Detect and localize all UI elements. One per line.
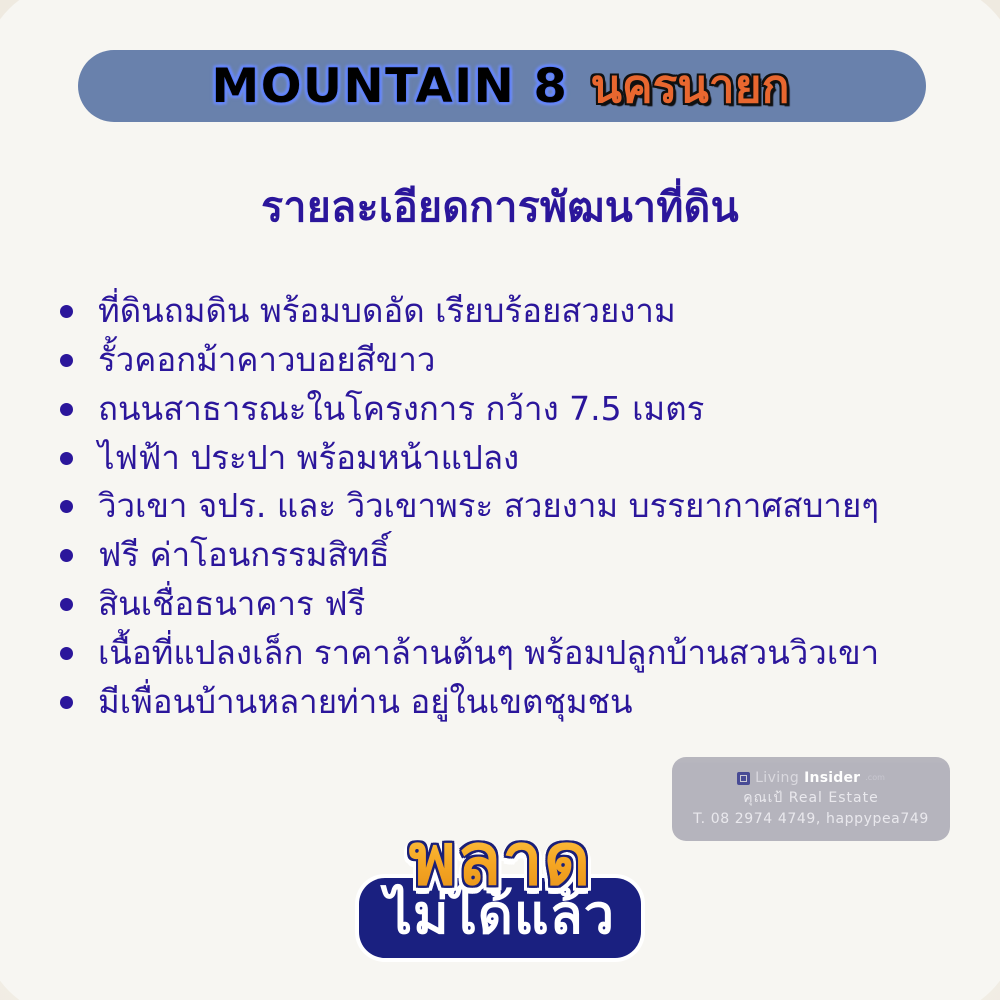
list-item: ที่ดินถมดิน พร้อมบดอัด เรียบร้อยสวยงาม [52,288,982,334]
list-item: สินเชื่อธนาคาร ฟรี [52,581,982,627]
watermark-brand-living: Living [755,771,799,785]
list-item-label: ไฟฟ้า ประปา พร้อมหน้าแปลง [98,438,519,477]
list-item: วิวเขา จปร. และ วิวเขาพระ สวยงาม บรรยากา… [52,483,982,529]
bullet-icon [60,354,73,367]
watermark-brand-insider: Insider [804,771,860,785]
watermark-brand-suffix: .com [865,774,885,782]
feature-list: ที่ดินถมดิน พร้อมบดอัด เรียบร้อยสวยงาม ร… [52,288,982,728]
livinginsider-logo-icon [737,772,750,785]
list-item-label: ถนนสาธารณะในโครงการ กว้าง 7.5 เมตร [98,389,704,428]
list-item-label: ฟรี ค่าโอนกรรมสิทธิ์ [98,535,390,574]
list-item-label: สินเชื่อธนาคาร ฟรี [98,584,365,623]
promo-sticker: พลาด ไม่ได้แล้ว [0,826,1000,976]
bullet-icon [60,549,73,562]
poster-root: MOUNTAIN 8 นครนายก รายละเอียดการพัฒนาที่… [0,0,1000,1000]
list-item-label: มีเพื่อนบ้านหลายท่าน อยู่ในเขตชุมชน [98,682,633,721]
watermark-agent-name: คุณเป้ Real Estate [743,787,878,809]
list-item-label: วิวเขา จปร. และ วิวเขาพระ สวยงาม บรรยากา… [98,486,879,525]
list-item-label: ที่ดินถมดิน พร้อมบดอัด เรียบร้อยสวยงาม [98,291,676,330]
list-item: ฟรี ค่าโอนกรรมสิทธิ์ [52,532,982,578]
watermark-brand: Living Insider .com [737,771,885,785]
watermark-contact: T. 08 2974 4749, happypea749 [693,811,929,827]
bullet-icon [60,500,73,513]
project-name-en: MOUNTAIN 8 [211,59,568,114]
list-item: มีเพื่อนบ้านหลายท่าน อยู่ในเขตชุมชน [52,679,982,725]
list-item: เนื้อที่แปลงเล็ก ราคาล้านต้นๆ พร้อมปลูกบ… [52,630,982,676]
list-item: รั้วคอกม้าคาวบอยสีขาว [52,337,982,383]
bullet-icon [60,305,73,318]
bullet-icon [60,403,73,416]
list-item-label: รั้วคอกม้าคาวบอยสีขาว [98,340,435,379]
promo-sticker-top-text: พลาด [409,826,592,894]
section-subtitle: รายละเอียดการพัฒนาที่ดิน [0,175,1000,240]
title-banner: MOUNTAIN 8 นครนายก [78,50,926,122]
bullet-icon [60,598,73,611]
list-item: ถนนสาธารณะในโครงการ กว้าง 7.5 เมตร [52,386,982,432]
list-item: ไฟฟ้า ประปา พร้อมหน้าแปลง [52,435,982,481]
bullet-icon [60,696,73,709]
project-location-th: นครนายก [590,50,789,123]
bullet-icon [60,452,73,465]
list-item-label: เนื้อที่แปลงเล็ก ราคาล้านต้นๆ พร้อมปลูกบ… [98,633,879,672]
bullet-icon [60,647,73,660]
